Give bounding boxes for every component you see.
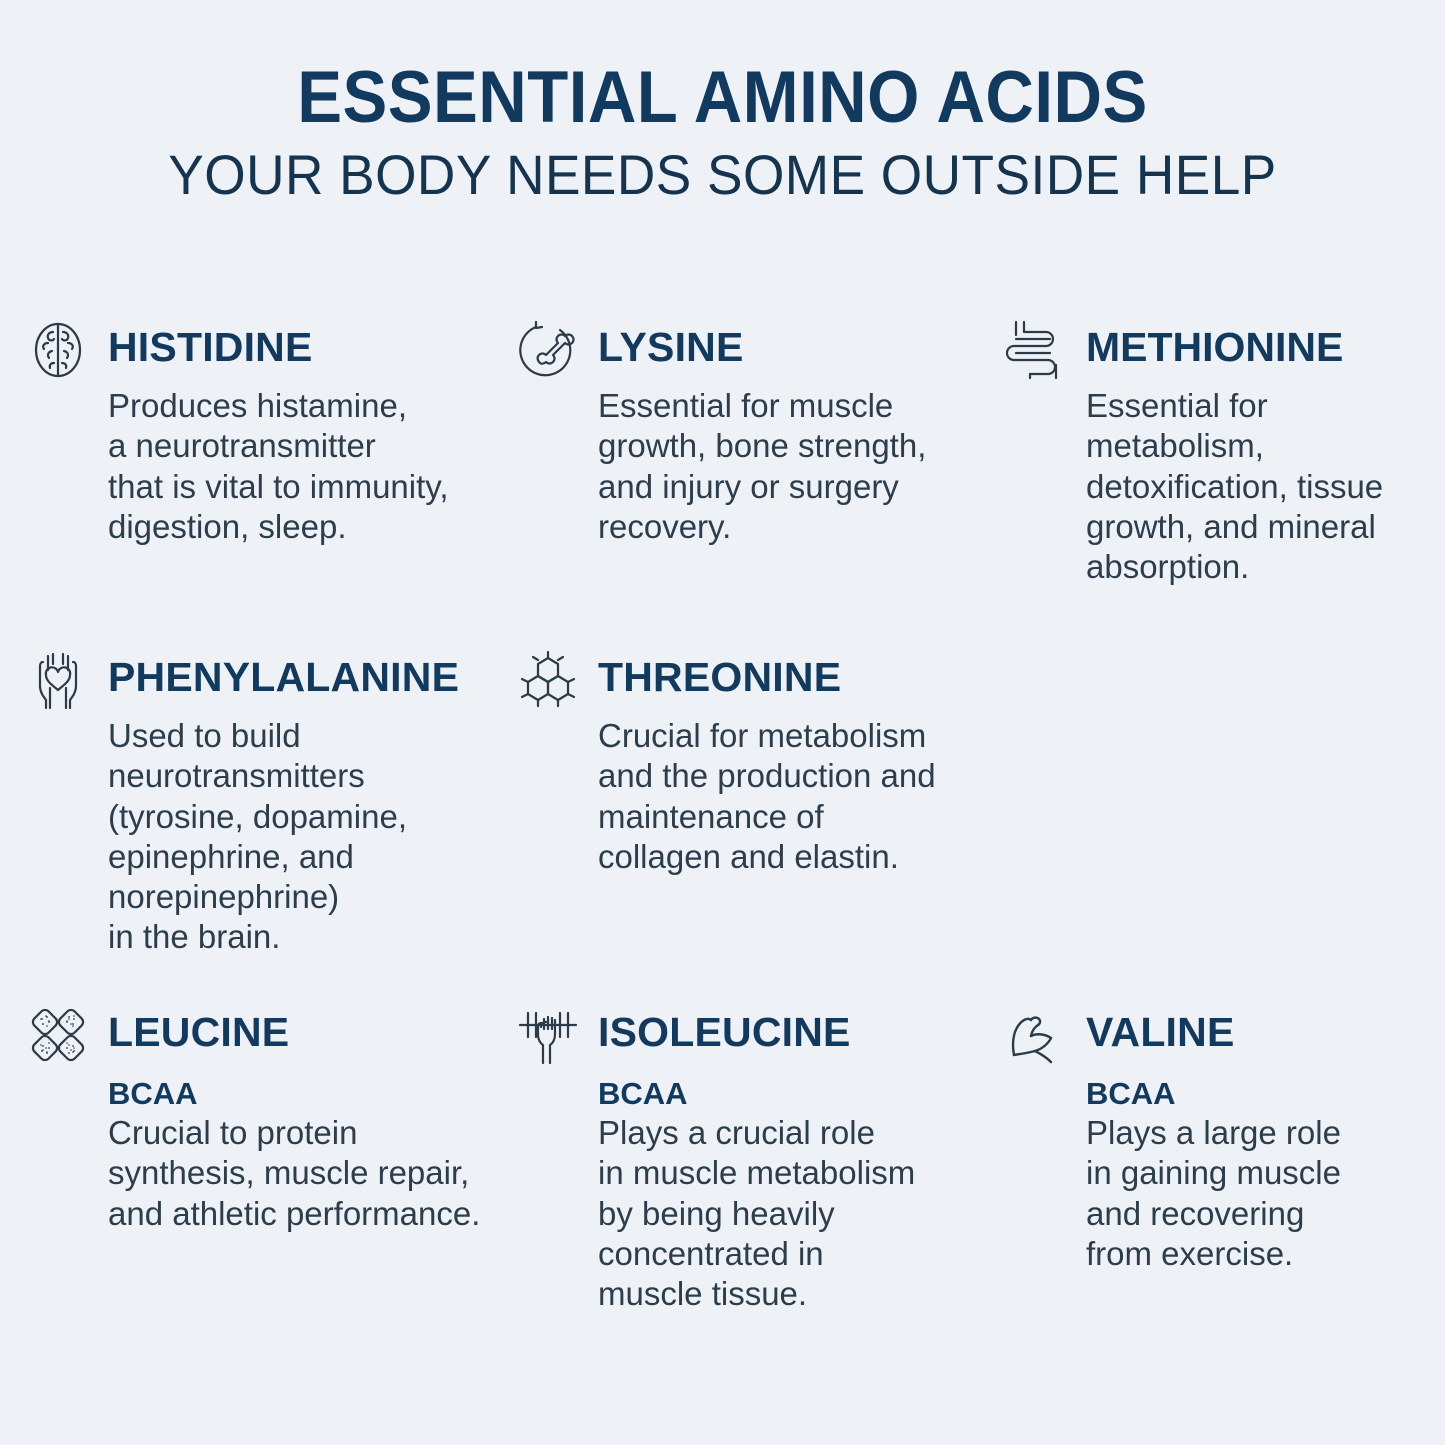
card-title: THREONINE xyxy=(598,648,841,698)
card-phenylalanine: PHENYLALANINE Used to build neurotransmi… xyxy=(22,648,512,1003)
card-title: LYSINE xyxy=(598,318,744,368)
molecule-icon xyxy=(512,648,584,712)
card-title: ISOLEUCINE xyxy=(598,1003,851,1053)
card-header: PHENYLALANINE xyxy=(22,648,512,710)
grid-spacer xyxy=(1000,648,1424,1003)
card-description: Crucial to protein synthesis, muscle rep… xyxy=(108,1113,512,1234)
crossed-bandages-icon xyxy=(22,1003,94,1067)
card-lysine: LYSINE Essential for muscle growth, bone… xyxy=(512,318,1000,648)
card-valine: VALINE BCAA Plays a large role in gainin… xyxy=(1000,1003,1424,1314)
card-header: LEUCINE xyxy=(22,1003,512,1065)
card-description: Used to build neurotransmitters (tyrosin… xyxy=(108,716,512,958)
bcaa-label: BCAA xyxy=(1086,1077,1424,1111)
card-isoleucine: ISOLEUCINE BCAA Plays a crucial role in … xyxy=(512,1003,1000,1314)
card-header: HISTIDINE xyxy=(22,318,512,380)
card-header: LYSINE xyxy=(512,318,1000,380)
bone-recovery-icon xyxy=(512,318,584,382)
hands-holding-heart-icon xyxy=(22,648,94,712)
card-histidine: HISTIDINE Produces histamine, a neurotra… xyxy=(22,318,512,648)
card-description: Essential for metabolism, detoxification… xyxy=(1086,386,1424,587)
card-header: VALINE xyxy=(1000,1003,1424,1065)
card-leucine: LEUCINE BCAA Crucial to protein synthesi… xyxy=(22,1003,512,1314)
card-description: Plays a crucial role in muscle metabolis… xyxy=(598,1113,1000,1314)
brain-icon xyxy=(22,318,94,382)
card-description: Plays a large role in gaining muscle and… xyxy=(1086,1113,1424,1274)
card-title: PHENYLALANINE xyxy=(108,648,459,698)
card-threonine: THREONINE Crucial for metabolism and the… xyxy=(512,648,1000,1003)
page-title: ESSENTIAL AMINO ACIDS xyxy=(58,62,1387,134)
card-header: ISOLEUCINE xyxy=(512,1003,1000,1065)
card-title: HISTIDINE xyxy=(108,318,313,368)
page-subtitle: YOUR BODY NEEDS SOME OUTSIDE HELP xyxy=(36,146,1409,205)
card-title: METHIONINE xyxy=(1086,318,1343,368)
card-description: Produces histamine, a neurotransmitter t… xyxy=(108,386,512,547)
infographic-page: ESSENTIAL AMINO ACIDS YOUR BODY NEEDS SO… xyxy=(0,0,1445,1445)
card-header: METHIONINE xyxy=(1000,318,1424,380)
intestines-icon xyxy=(1000,318,1072,382)
card-title: VALINE xyxy=(1086,1003,1235,1053)
card-description: Essential for muscle growth, bone streng… xyxy=(598,386,1000,547)
card-methionine: METHIONINE Essential for metabolism, det… xyxy=(1000,318,1424,648)
bcaa-label: BCAA xyxy=(108,1077,512,1111)
flexed-bicep-icon xyxy=(1000,1003,1072,1067)
header: ESSENTIAL AMINO ACIDS YOUR BODY NEEDS SO… xyxy=(0,0,1445,204)
amino-acid-grid: HISTIDINE Produces histamine, a neurotra… xyxy=(22,318,1426,1314)
bcaa-label: BCAA xyxy=(598,1077,1000,1111)
hand-barbell-icon xyxy=(512,1003,584,1067)
card-description: Crucial for metabolism and the productio… xyxy=(598,716,1000,877)
card-title: LEUCINE xyxy=(108,1003,289,1053)
card-header: THREONINE xyxy=(512,648,1000,710)
